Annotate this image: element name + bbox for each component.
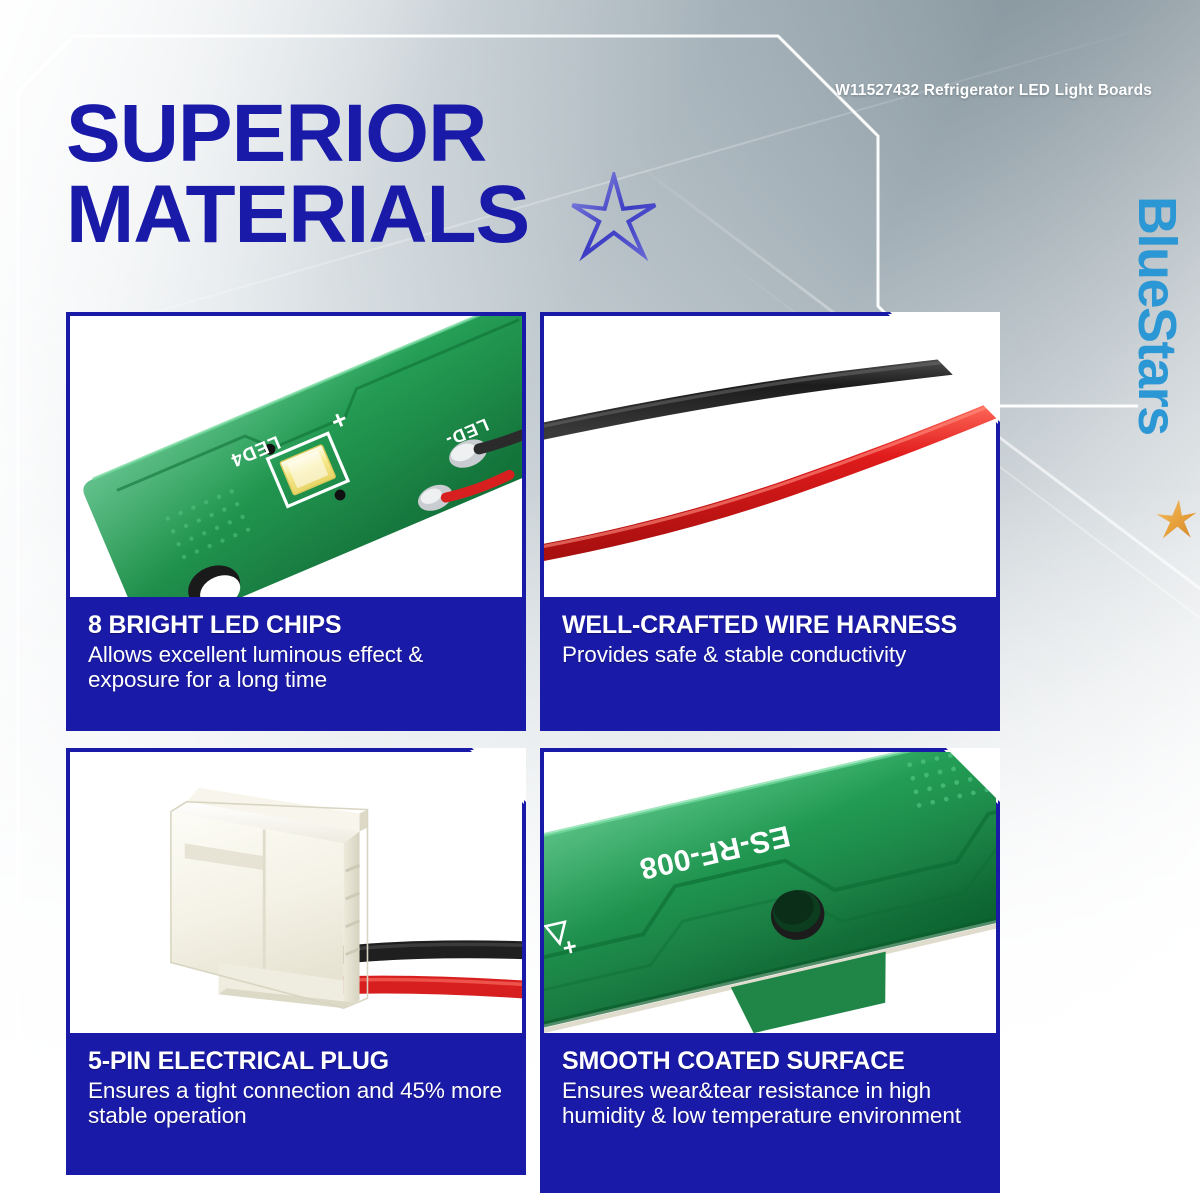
feature-photo-pcb-led-closeup: LED4 + LED- <box>66 312 526 599</box>
feature-title: SMOOTH COATED SURFACE <box>562 1048 982 1075</box>
infographic-canvas: W11527432 Refrigerator LED Light Boards … <box>0 0 1200 1200</box>
feature-title: 5-PIN ELECTRICAL PLUG <box>88 1048 508 1075</box>
feature-card-grid: LED4 + LED- <box>66 312 1000 1193</box>
feature-card-bright-led-chips: LED4 + LED- <box>66 312 526 731</box>
brand-logo: BlueStars <box>1122 196 1200 526</box>
feature-card-row: 5-PIN ELECTRICAL PLUG Ensures a tight co… <box>66 748 1000 1193</box>
brand-name-part2: Stars <box>1127 307 1187 435</box>
brand-star-icon <box>1154 498 1198 542</box>
feature-body: Ensures wear&tear resistance in high hum… <box>562 1078 982 1129</box>
feature-caption: SMOOTH COATED SURFACE Ensures wear&tear … <box>540 1035 1000 1193</box>
feature-title: 8 BRIGHT LED CHIPS <box>88 612 508 639</box>
feature-caption: WELL-CRAFTED WIRE HARNESS Provides safe … <box>540 599 1000 731</box>
feature-caption: 8 BRIGHT LED CHIPS Allows excellent lumi… <box>66 599 526 731</box>
brand-name-part1: Blue <box>1127 196 1187 307</box>
feature-body: Allows excellent luminous effect & expos… <box>88 642 508 693</box>
feature-photo-wire-pair-closeup <box>540 312 1000 599</box>
photo-stage <box>544 316 996 597</box>
photo-stage: LED4 + LED- <box>70 316 522 597</box>
feature-photo-connector-closeup <box>66 748 526 1035</box>
brand-logo-text: BlueStars <box>1130 196 1184 435</box>
feature-body: Provides safe & stable conductivity <box>562 642 982 668</box>
photo-stage: ES-RF-008 + <box>544 752 996 1033</box>
feature-caption: 5-PIN ELECTRICAL PLUG Ensures a tight co… <box>66 1035 526 1175</box>
feature-body: Ensures a tight connection and 45% more … <box>88 1078 508 1129</box>
feature-card-electrical-plug: 5-PIN ELECTRICAL PLUG Ensures a tight co… <box>66 748 526 1193</box>
product-part-number-title: W11527432 Refrigerator LED Light Boards <box>835 82 1152 100</box>
page-title-line-2: MATERIALS <box>66 177 726 252</box>
feature-title: WELL-CRAFTED WIRE HARNESS <box>562 612 982 639</box>
feature-card-wire-harness: WELL-CRAFTED WIRE HARNESS Provides safe … <box>540 312 1000 731</box>
feature-card-row: LED4 + LED- <box>66 312 1000 731</box>
photo-stage <box>70 752 522 1033</box>
feature-photo-pcb-surface-closeup: ES-RF-008 + <box>540 748 1000 1035</box>
feature-card-coated-surface: ES-RF-008 + <box>540 748 1000 1193</box>
page-title-line-1: SUPERIOR <box>66 96 726 171</box>
